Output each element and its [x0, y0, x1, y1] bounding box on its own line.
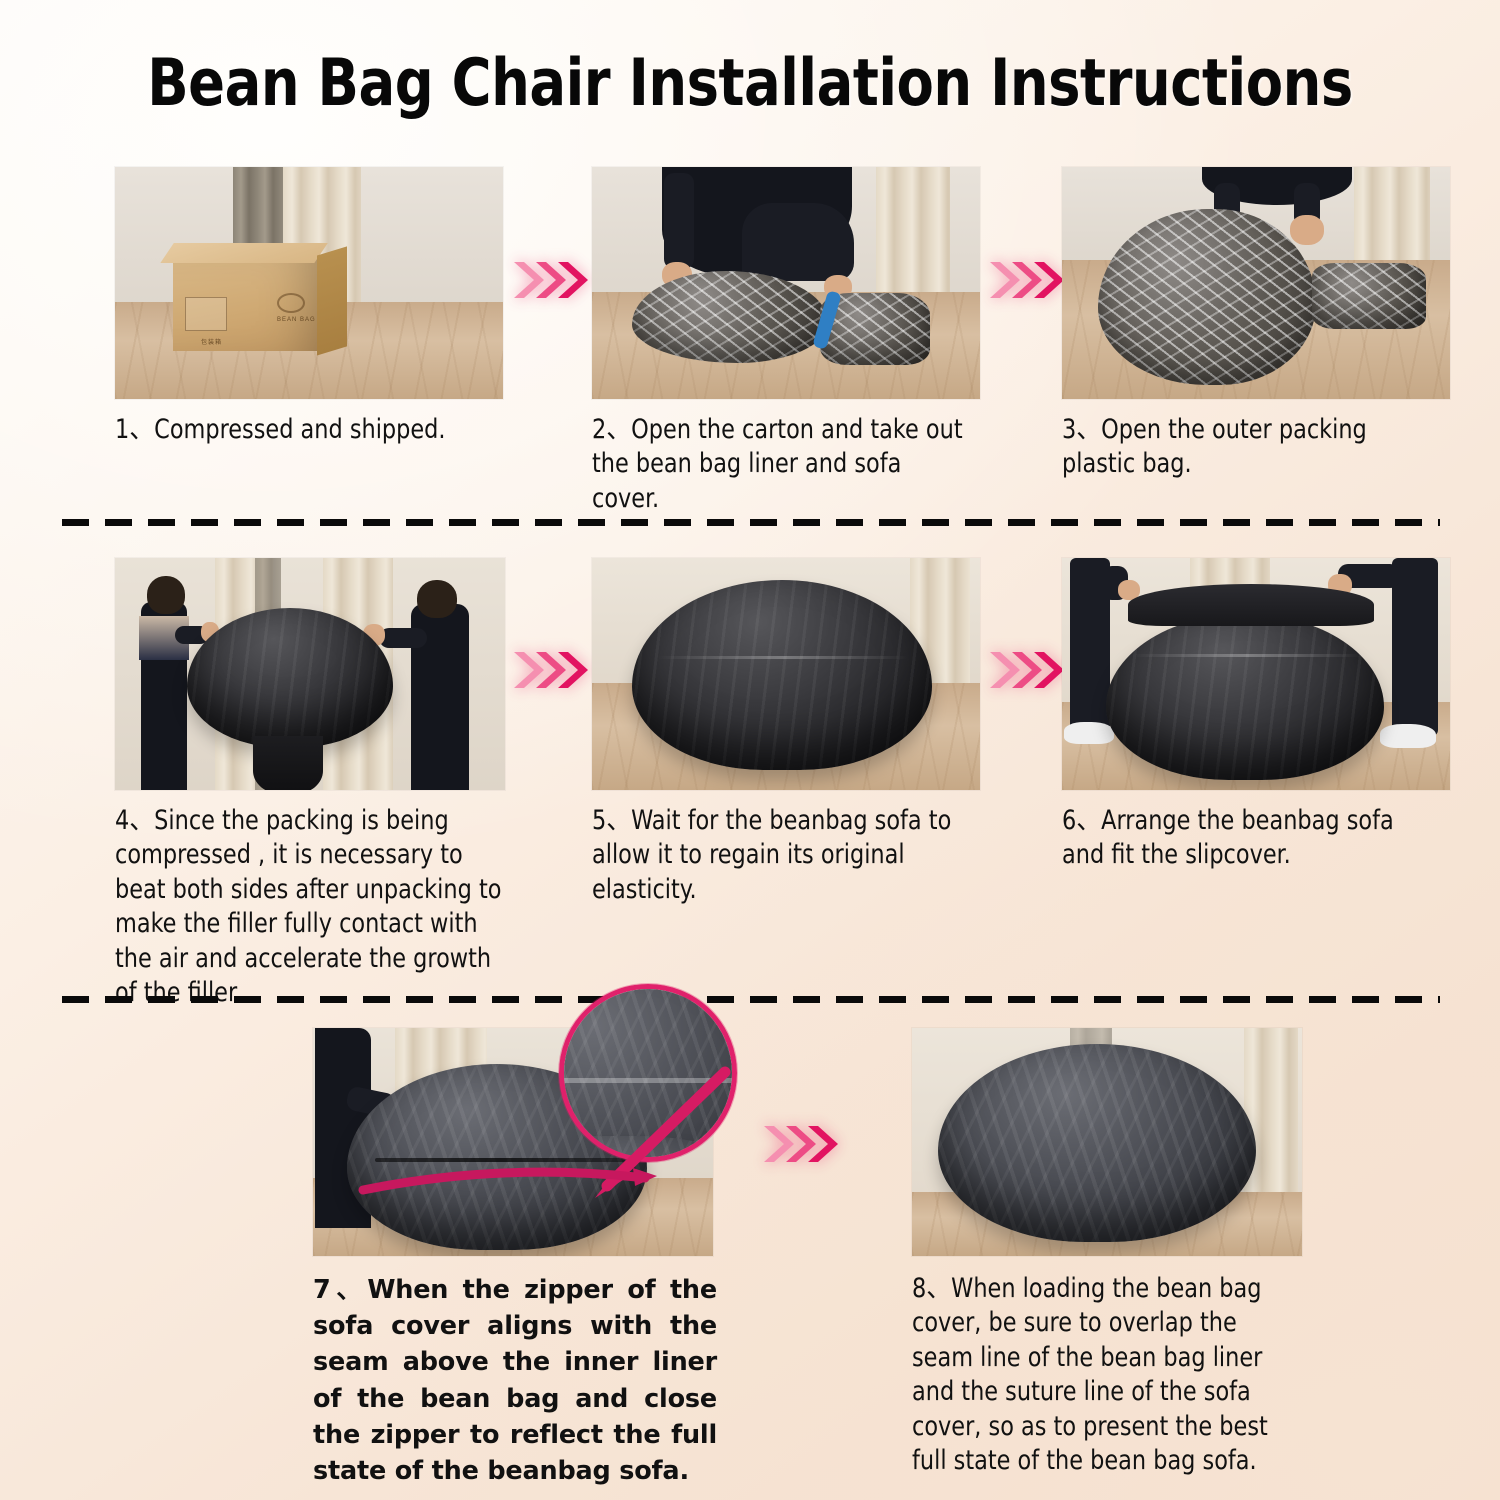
step-7-caption: 7、When the zipper of the sofa cover alig… — [313, 1272, 717, 1489]
step-5-caption: 5、Wait for the beanbag sofa to allow it … — [592, 804, 959, 907]
step-4-caption: 4、Since the packing is being compressed … — [115, 804, 510, 1011]
step-2-caption: 2、Open the carton and take out the bean … — [592, 413, 968, 516]
step-3-caption: 3、Open the outer packing plastic bag. — [1062, 413, 1429, 482]
step-8-caption: 8、When loading the bean bag cover, be su… — [912, 1272, 1288, 1479]
step-2-photo — [592, 167, 980, 399]
step-5-cell: 5、Wait for the beanbag sofa to allow it … — [592, 558, 980, 907]
page-title: Bean Bag Chair Installation Instructions — [53, 46, 1448, 121]
box-code-text: 包装箱 — [201, 337, 222, 346]
step-6-caption: 6、Arrange the beanbag sofa and fit the s… — [1062, 804, 1429, 873]
step-7-cell: 7、When the zipper of the sofa cover alig… — [313, 1028, 713, 1489]
step-8-photo — [912, 1028, 1302, 1256]
step-4-cell: 4、Since the packing is being compressed … — [115, 558, 505, 1011]
step-8-cell: 8、When loading the bean bag cover, be su… — [912, 1028, 1302, 1479]
step-1-photo: BEAN BAG 包装箱 — [115, 167, 503, 399]
arrow-step5-to-step6 — [988, 648, 1064, 692]
page-title-container: Bean Bag Chair Installation Instructions — [0, 46, 1500, 121]
step-6-photo — [1062, 558, 1450, 790]
person-right-leg — [1392, 558, 1438, 736]
arrow-step1-to-step2 — [512, 258, 588, 302]
opened-plastic-bag — [1098, 209, 1316, 385]
magnified-seam-callout — [559, 984, 737, 1162]
box-brand-text: BEAN BAG — [277, 317, 316, 323]
divider-row2-row3 — [62, 996, 1440, 1003]
step-3-cell: 3、Open the outer packing plastic bag. — [1062, 167, 1450, 482]
step-1-caption: 1、Compressed and shipped. — [115, 413, 510, 447]
arrow-step2-to-step3 — [988, 258, 1064, 302]
slipcover-edge — [1128, 584, 1374, 626]
flat-vacuum-bag — [1312, 263, 1426, 329]
arrow-step4-to-step5 — [512, 648, 588, 692]
shipping-box: BEAN BAG 包装箱 — [173, 259, 321, 351]
step-5-photo — [592, 558, 980, 790]
step-3-photo — [1062, 167, 1450, 399]
infographic-page: Bean Bag Chair Installation Instructions… — [0, 0, 1500, 1500]
finished-bean-bag-sofa — [938, 1044, 1256, 1242]
arrow-step7-to-step8 — [762, 1122, 838, 1166]
step-2-cell: 2、Open the carton and take out the bean … — [592, 167, 980, 516]
step-1-cell: BEAN BAG 包装箱 1、Compressed and shipped. — [115, 167, 503, 447]
step-6-cell: 6、Arrange the beanbag sofa and fit the s… — [1062, 558, 1450, 873]
callout-zoom-content — [559, 984, 737, 1162]
step-4-photo — [115, 558, 505, 790]
divider-row1-row2 — [62, 519, 1440, 526]
